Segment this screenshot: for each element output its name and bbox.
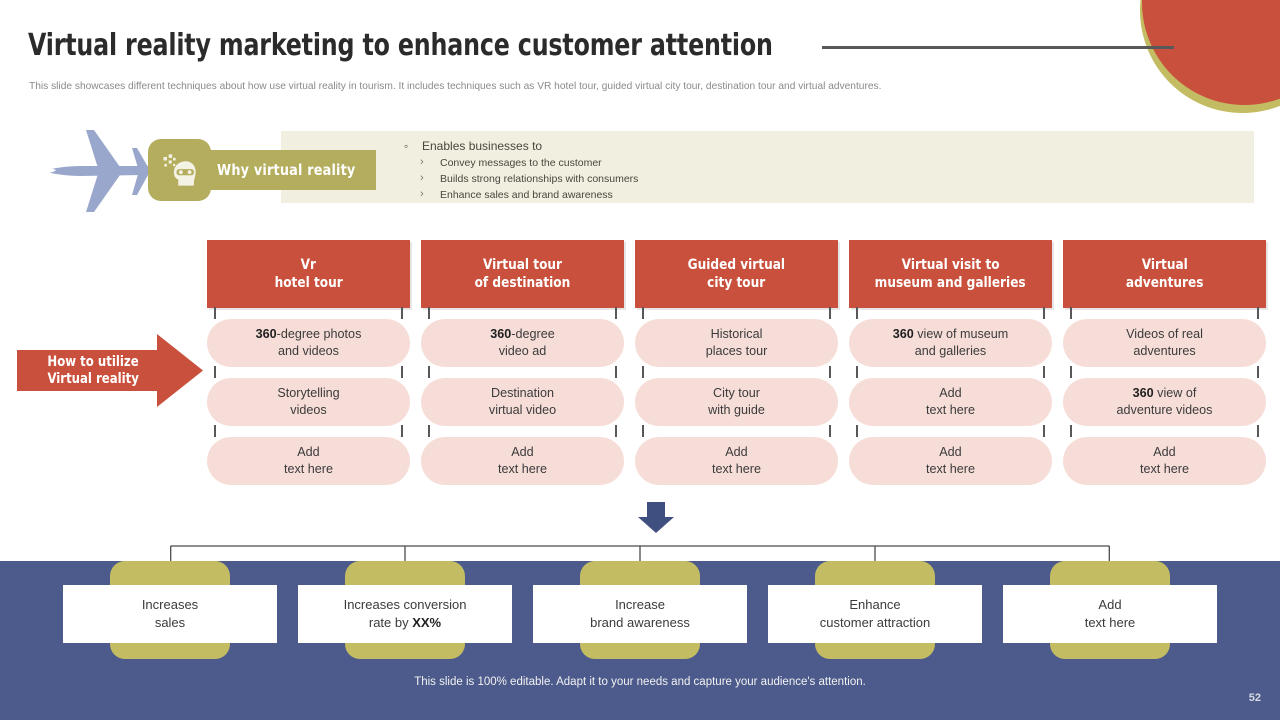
cell-line-1: 360-degree photos [256,326,362,343]
cell-line-1: City tour [713,385,760,402]
matrix-cell-0-1[interactable]: Storytellingvideos [207,378,410,426]
connector-tick-right [401,307,403,319]
outcome-line-2: sales [155,614,185,632]
outcome-line-2: rate by XX% [369,614,441,632]
cell-bold-value: 360 [1133,386,1154,400]
bullet-main: Enables businesses to [402,138,638,155]
corner-olive-circle [1140,0,1280,113]
connector-tick-left [642,425,644,437]
cell-line-2: virtual video [489,402,556,419]
connector-tick-right [1257,307,1259,319]
connector-tick-right [1043,425,1045,437]
cell-line-2: text here [1140,461,1189,478]
outcome-line-1: Increase [615,596,665,614]
outcome-line-2: brand awareness [590,614,690,632]
page-subtitle: This slide showcases different technique… [29,80,1077,92]
cell-line-1: Add [511,444,533,461]
cell-line-1: Add [939,385,961,402]
slide-root: Virtual reality marketing to enhance cus… [0,0,1280,720]
connector-tick-right [1257,425,1259,437]
column-header-line-1: Virtual tour [483,256,562,274]
cell-line-2: text here [498,461,547,478]
connector-tick-right [1257,366,1259,378]
connector-tick-left [428,307,430,319]
matrix-cell-4-1[interactable]: 360 view ofadventure videos [1063,378,1266,426]
column-header-line-1: Virtual [1141,256,1187,274]
outcome-text-box: Enhancecustomer attraction [768,585,982,643]
connector-tick-left [1070,425,1072,437]
connector-tick-left [856,425,858,437]
cell-rest-text: -degree photos [277,327,362,341]
connector-tick-right [1043,307,1045,319]
outcome-line-1: Add [1098,596,1121,614]
cell-line-1: Storytelling [277,385,339,402]
cell-line-2: places tour [706,343,768,360]
cell-line-2: and galleries [915,343,986,360]
column-header-3[interactable]: Virtual visit tomuseum and galleries [849,240,1052,308]
cell-line-2: text here [926,461,975,478]
cell-rest-text: view of museum [914,327,1008,341]
cell-rest-text: -degree [511,327,554,341]
cell-line-2: and videos [278,343,339,360]
cell-line-1: Add [939,444,961,461]
page-title: Virtual reality marketing to enhance cus… [28,28,773,63]
outcome-bold-value: XX% [412,615,441,630]
connector-tick-left [214,366,216,378]
connector-tick-left [428,425,430,437]
how-to-line-2: Virtual reality [47,371,138,388]
matrix-cell-0-0[interactable]: 360-degree photosand videos [207,319,410,367]
outcome-line-1: Increases conversion [344,596,467,614]
outcome-card-0[interactable]: Increasessales [110,561,230,659]
column-header-1[interactable]: Virtual tourof destination [421,240,624,308]
matrix-cell-3-1[interactable]: Addtext here [849,378,1052,426]
cell-bold-value: 360 [256,327,277,341]
cell-line-1: Historical [711,326,763,343]
column-header-line-2: museum and galleries [875,274,1026,292]
connector-tick-left [642,307,644,319]
cell-rest-text: view of [1154,386,1197,400]
column-header-line-2: hotel tour [274,274,342,292]
bullet-sub-1: Builds strong relationships with consume… [402,171,638,187]
cell-line-2: text here [926,402,975,419]
column-header-2[interactable]: Guided virtualcity tour [635,240,838,308]
cell-line-1: Destination [491,385,554,402]
connector-tick-left [642,366,644,378]
corner-red-circle [1142,0,1280,105]
how-to-utilize-arrow: How to utilize Virtual reality [17,334,203,407]
outcome-line-2-text: rate by [369,615,412,630]
outcome-card-2[interactable]: Increasebrand awareness [580,561,700,659]
connector-tick-left [1070,366,1072,378]
connector-tick-right [829,366,831,378]
outcome-card-3[interactable]: Enhancecustomer attraction [815,561,935,659]
cell-line-2: text here [284,461,333,478]
matrix-cell-3-2[interactable]: Addtext here [849,437,1052,485]
outcome-text-box: Addtext here [1003,585,1217,643]
matrix-cell-2-2[interactable]: Addtext here [635,437,838,485]
why-vr-label-text: Why virtual reality [217,161,355,179]
cell-line-1: Add [725,444,747,461]
column-header-4[interactable]: Virtualadventures [1063,240,1266,308]
cell-line-2: text here [712,461,761,478]
bullet-sub-0: Convey messages to the customer [402,155,638,171]
why-vr-label: Why virtual reality [196,150,376,190]
page-number: 52 [1249,692,1261,704]
connector-tick-right [615,307,617,319]
connector-tick-right [615,425,617,437]
cell-line-2: adventures [1133,343,1195,360]
matrix-column-3: Virtual visit tomuseum and galleries360 … [849,240,1052,485]
connector-tick-right [829,307,831,319]
cell-line-1: Videos of real [1126,326,1203,343]
cell-line-2: videos [290,402,326,419]
column-header-line-2: adventures [1126,274,1204,292]
outcome-card-1[interactable]: Increases conversionrate by XX% [345,561,465,659]
outcome-card-4[interactable]: Addtext here [1050,561,1170,659]
cell-line-2: video ad [499,343,547,360]
how-to-utilize-text: How to utilize Virtual reality [17,334,169,407]
cell-line-1: Add [1153,444,1175,461]
footer-note: This slide is 100% editable. Adapt it to… [0,676,1280,688]
cell-line-1: 360-degree [490,326,554,343]
corner-decoration [1120,0,1280,130]
connector-tick-right [829,425,831,437]
matrix-cell-0-2[interactable]: Addtext here [207,437,410,485]
cell-line-2: adventure videos [1117,402,1213,419]
why-vr-bullets: Enables businesses to Convey messages to… [402,138,638,203]
cell-line-2: with guide [708,402,765,419]
connector-tick-left [856,366,858,378]
bullet-sub-2: Enhance sales and brand awareness [402,187,638,203]
cell-bold-value: 360 [490,327,511,341]
matrix-cell-2-1[interactable]: City tourwith guide [635,378,838,426]
connector-tick-right [1043,366,1045,378]
matrix-cell-1-1[interactable]: Destinationvirtual video [421,378,624,426]
outcome-line-2: text here [1085,614,1136,632]
matrix-column-4: VirtualadventuresVideos of realadventure… [1063,240,1266,485]
down-arrow-icon [636,502,676,534]
outcome-text-box: Increasessales [63,585,277,643]
title-rule [822,46,1174,49]
matrix-cell-1-2[interactable]: Addtext here [421,437,624,485]
outcome-line-1: Increases [142,596,198,614]
matrix-cell-4-0[interactable]: Videos of realadventures [1063,319,1266,367]
column-header-line-1: Guided virtual [688,256,785,274]
connector-tick-left [428,366,430,378]
connector-tick-left [214,307,216,319]
matrix-column-0: Vrhotel tour360-degree photosand videosS… [207,240,410,485]
connector-tick-left [1070,307,1072,319]
matrix-cell-2-0[interactable]: Historicalplaces tour [635,319,838,367]
outcome-line-2: customer attraction [820,614,931,632]
matrix-cell-1-0[interactable]: 360-degreevideo ad [421,319,624,367]
column-header-0[interactable]: Vrhotel tour [207,240,410,308]
outcome-text-box: Increasebrand awareness [533,585,747,643]
connector-tick-left [856,307,858,319]
how-to-line-1: How to utilize [47,354,138,371]
column-header-line-2: city tour [707,274,765,292]
cell-line-1: Add [297,444,319,461]
matrix-column-2: Guided virtualcity tourHistoricalplaces … [635,240,838,485]
matrix-column-1: Virtual tourof destination360-degreevide… [421,240,624,485]
vr-head-glyph [160,150,200,190]
column-header-line-1: Vr [301,256,316,274]
outcome-line-1: Enhance [849,596,900,614]
cell-bold-value: 360 [893,327,914,341]
connector-tick-right [615,366,617,378]
connector-tick-right [401,366,403,378]
matrix-cell-4-2[interactable]: Addtext here [1063,437,1266,485]
column-header-line-2: of destination [475,274,571,292]
outcome-text-box: Increases conversionrate by XX% [298,585,512,643]
connector-tick-left [214,425,216,437]
cell-line-1: 360 view of museum [893,326,1009,343]
matrix-cell-3-0[interactable]: 360 view of museumand galleries [849,319,1052,367]
cell-line-1: 360 view of [1133,385,1197,402]
connector-tick-right [401,425,403,437]
column-header-line-1: Virtual visit to [902,256,1000,274]
